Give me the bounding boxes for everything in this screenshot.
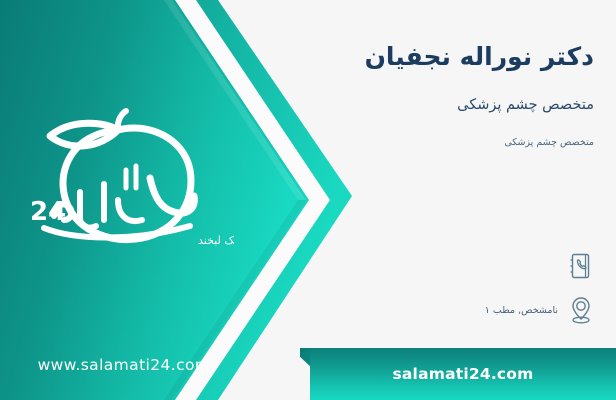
- contact-address-label: نامشخص, مطب ۱: [268, 305, 564, 316]
- doctor-specialty: متخصص چشم پزشکی: [264, 97, 594, 113]
- salamati-apple-logo: 24 به راحتی یک لبخند: [14, 108, 234, 258]
- contact-list: نامشخص, مطب ۱: [268, 250, 598, 338]
- footer-website: salamati24.com: [392, 365, 533, 383]
- contact-row-phone[interactable]: [268, 250, 598, 282]
- bottom-bar: salamati24.com: [310, 348, 616, 400]
- phonebook-icon: [564, 250, 598, 282]
- wordmark-stroke-4: [118, 200, 142, 221]
- logo-website-url: www.salamati24.com: [14, 356, 234, 374]
- doctor-specialty-secondary: متخصص چشم پزشکی: [264, 137, 594, 148]
- brand-logo: 24 به راحتی یک لبخند www.salamati24.com: [14, 108, 234, 278]
- contact-row-address[interactable]: نامشخص, مطب ۱: [268, 294, 598, 326]
- doctor-name: دکتر نوراله نجفیان: [264, 42, 594, 71]
- business-card: 24 به راحتی یک لبخند www.salamati24.com …: [0, 0, 616, 400]
- location-pin-icon: [564, 294, 598, 326]
- logo-tagline: به راحتی یک لبخند: [198, 234, 234, 247]
- wordmark-stroke-2: [80, 192, 96, 228]
- logo-badge-24: 24: [30, 197, 66, 227]
- apple-leaf-icon: [50, 123, 118, 146]
- wordmark-dots: [126, 166, 136, 188]
